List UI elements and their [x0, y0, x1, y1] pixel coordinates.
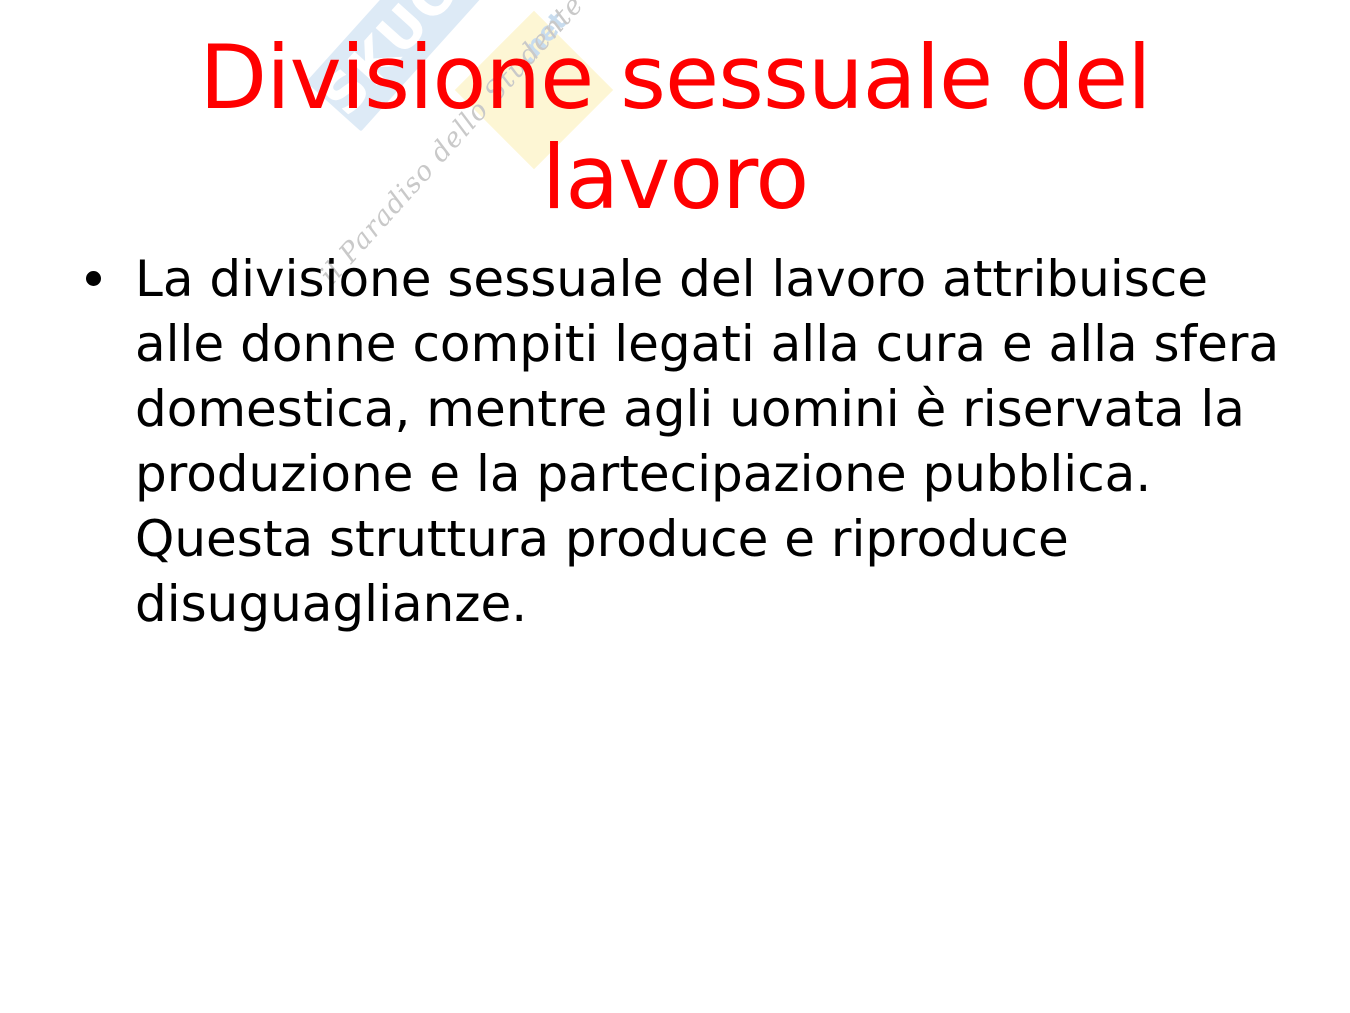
list-item-label: La divisione sessuale del lavoro attribu…	[135, 250, 1279, 633]
slide-body-bullet-list: La divisione sessuale del lavoro attribu…	[78, 247, 1288, 637]
bullet-dot-icon	[86, 271, 101, 286]
slide-title: Divisione sessuale del lavoro	[120, 28, 1230, 228]
list-item: La divisione sessuale del lavoro attribu…	[78, 247, 1288, 637]
presentation-slide: SKUOLA .net il Paradiso dello Studente D…	[0, 0, 1350, 1013]
